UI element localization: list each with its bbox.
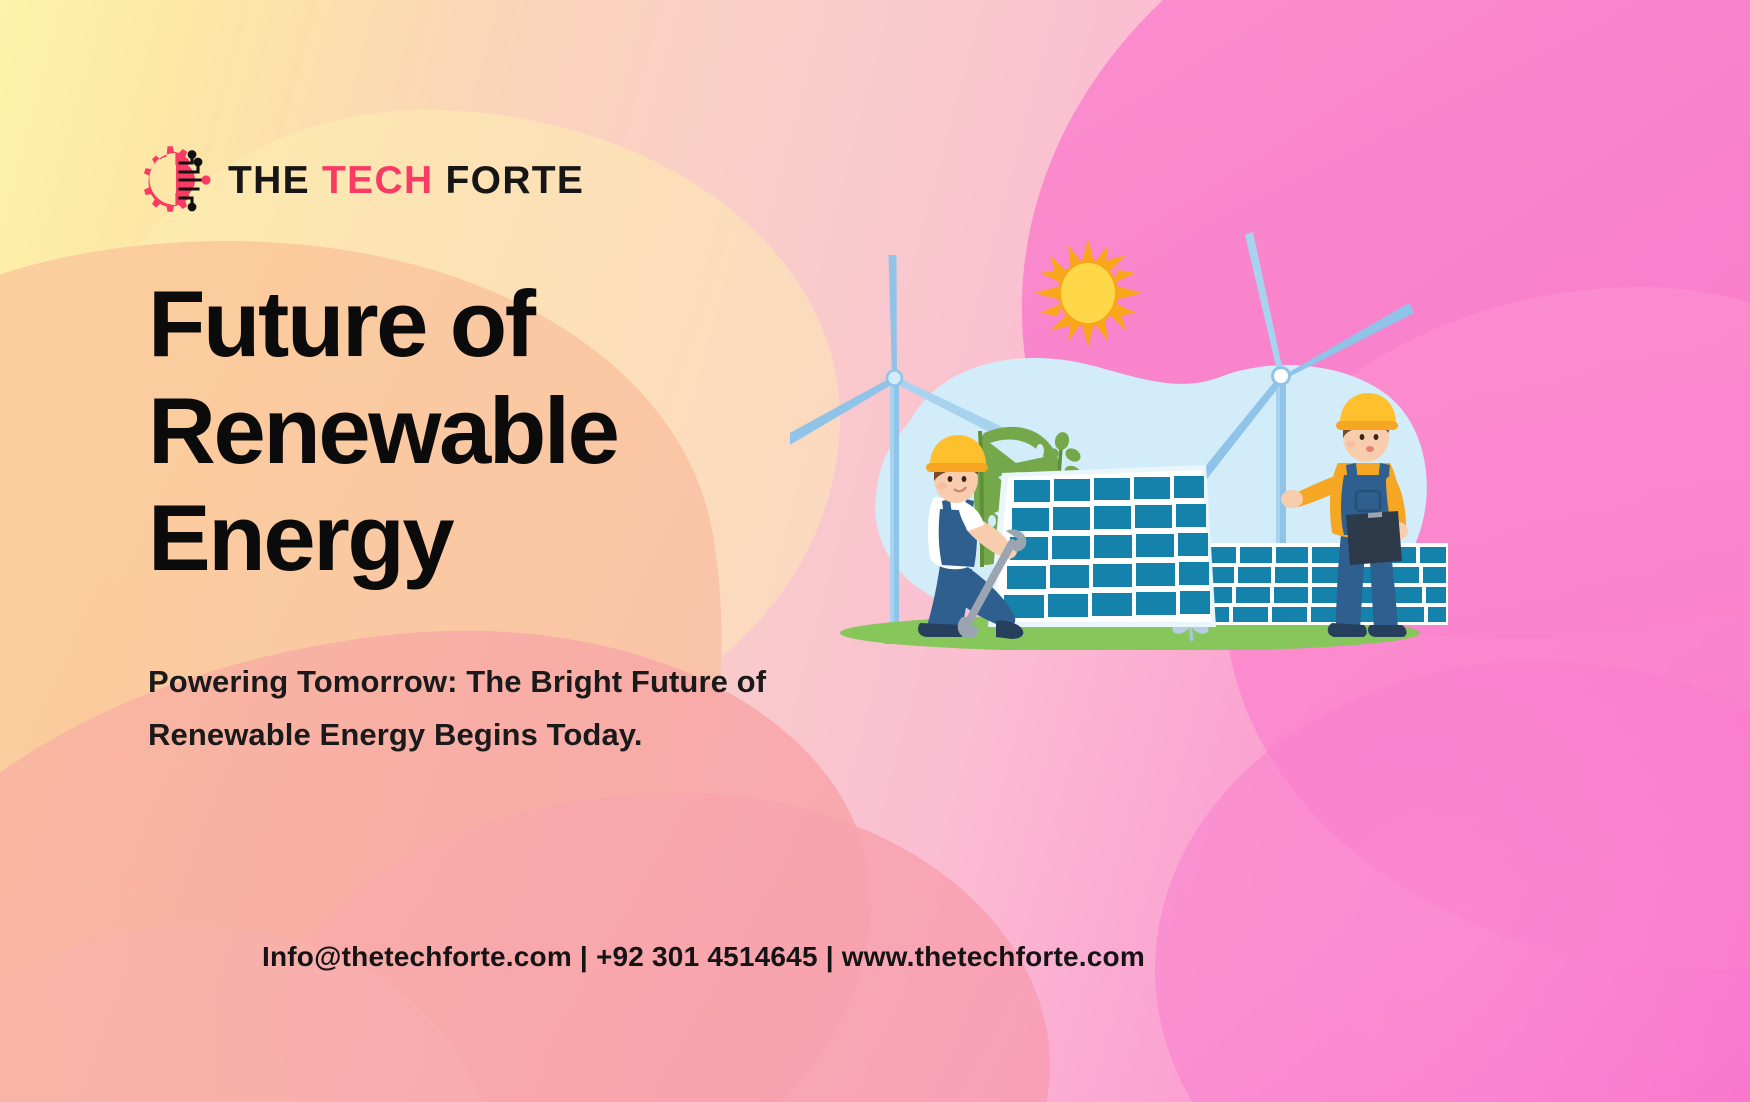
headline-line-3: Energy: [148, 484, 828, 591]
brand-name-accent: TECH: [322, 159, 433, 202]
tagline: Powering Tomorrow: The Bright Future of …: [148, 655, 928, 762]
banner-canvas: THE TECH FORTE Future of Renewable Energ…: [0, 0, 1750, 1102]
brand-logo[interactable]: THE TECH FORTE: [140, 143, 584, 217]
solar-panel-secondary: [1188, 543, 1448, 625]
gear-circuit-icon: [140, 143, 214, 217]
headline-line-1: Future of: [148, 270, 828, 377]
brand-name: THE TECH FORTE: [228, 161, 584, 200]
sun-icon: [1034, 239, 1142, 347]
headline-line-2: Renewable: [148, 377, 828, 484]
brand-name-part2: FORTE: [433, 159, 584, 202]
tagline-line-1: Powering Tomorrow: The Bright Future of: [148, 655, 928, 708]
brand-name-part1: THE: [228, 159, 322, 202]
tagline-line-2: Renewable Energy Begins Today.: [148, 708, 928, 761]
contact-info[interactable]: Info@thetechforte.com | +92 301 4514645 …: [262, 941, 1145, 973]
renewable-energy-illustration: [790, 225, 1450, 650]
page-title: Future of Renewable Energy: [148, 270, 828, 591]
